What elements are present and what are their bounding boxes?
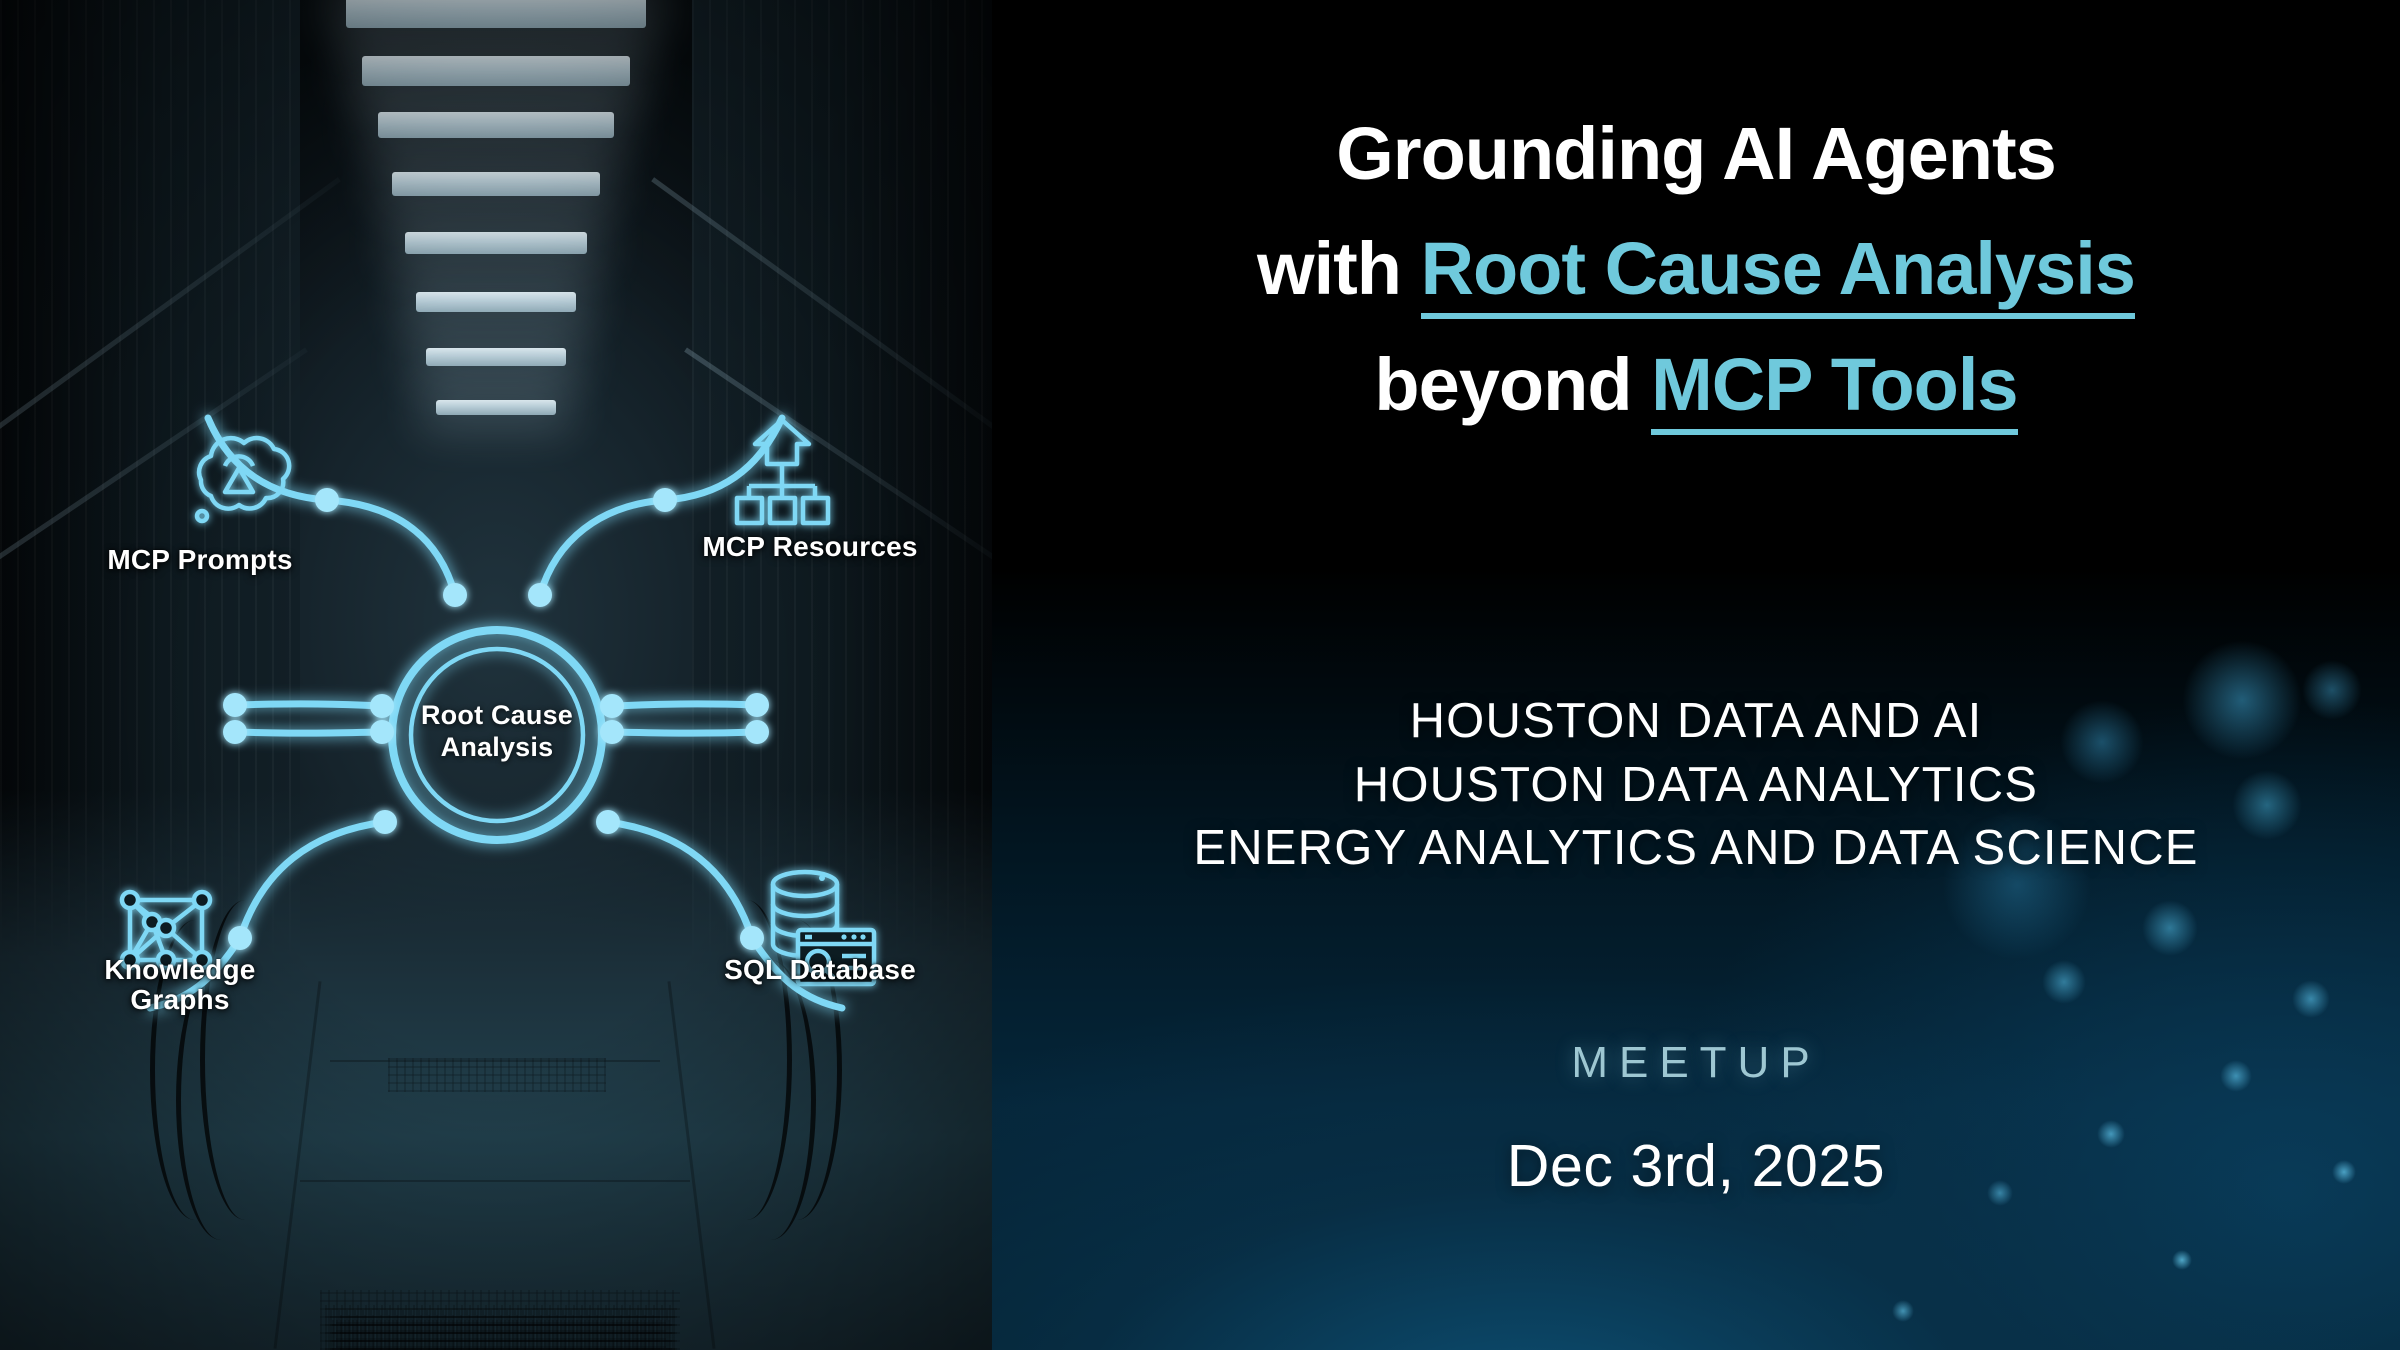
left-visual-panel: Root Cause Analysis MCP Prompts MCP Reso… <box>0 0 992 1350</box>
event-promo-slide: Root Cause Analysis MCP Prompts MCP Reso… <box>0 0 2400 1350</box>
node-label-sql-database: SQL Database <box>660 955 980 985</box>
title-line-1: Grounding AI Agents <box>992 96 2400 211</box>
node-label-knowledge-graphs: Knowledge Graphs <box>40 955 320 1015</box>
event-date: Dec 3rd, 2025 <box>992 1132 2400 1200</box>
root-cause-node-diagram <box>0 0 992 1350</box>
node-label-mcp-resources: MCP Resources <box>650 532 970 562</box>
title-line-2: with Root Cause Analysis <box>992 211 2400 326</box>
title-line-1-text: Grounding AI Agents <box>1336 112 2056 195</box>
organizer-list: HOUSTON DATA AND AI HOUSTON DATA ANALYTI… <box>992 690 2400 881</box>
organizer-line: HOUSTON DATA ANALYTICS <box>992 754 2400 818</box>
thought-cloud-icon <box>197 438 289 521</box>
right-content-panel: Grounding AI Agents with Root Cause Anal… <box>992 0 2400 1350</box>
title-line-3: beyond MCP Tools <box>992 327 2400 442</box>
title-link-root-cause-analysis[interactable]: Root Cause Analysis <box>1421 227 2135 319</box>
title-line-3-prefix: beyond <box>1374 343 1651 426</box>
title-link-mcp-tools[interactable]: MCP Tools <box>1651 343 2018 435</box>
upload-hierarchy-icon <box>737 420 828 523</box>
slide-title: Grounding AI Agents with Root Cause Anal… <box>992 96 2400 442</box>
node-label-mcp-prompts: MCP Prompts <box>50 545 350 575</box>
title-line-2-prefix: with <box>1257 227 1421 310</box>
event-type-label: MEETUP <box>992 1038 2400 1088</box>
organizer-line: ENERGY ANALYTICS AND DATA SCIENCE <box>992 817 2400 881</box>
hub-label: Root Cause Analysis <box>397 700 597 764</box>
organizer-line: HOUSTON DATA AND AI <box>992 690 2400 754</box>
